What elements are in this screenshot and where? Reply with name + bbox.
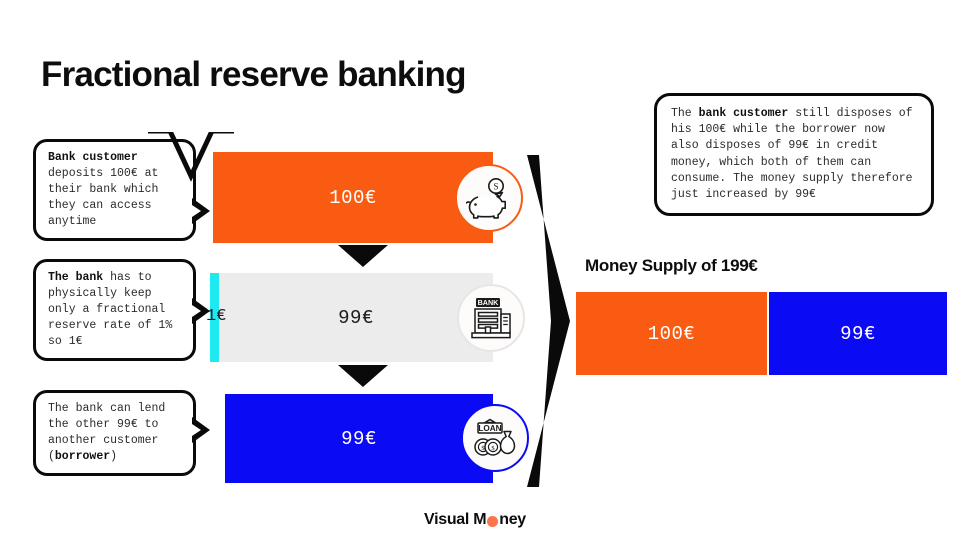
flow-arrow-down-icon bbox=[338, 365, 388, 387]
reserve-bar: 99€ bbox=[219, 273, 493, 362]
svg-text:BANK: BANK bbox=[478, 298, 500, 307]
piggy-bank-icon: S bbox=[455, 164, 523, 232]
money-supply-stacked-bar: 100€ 99€ bbox=[576, 292, 947, 375]
loan-money-bag-icon: LOAN $ $ bbox=[461, 404, 529, 472]
loan-bar: 99€ bbox=[225, 394, 493, 483]
logo-text-part2: ney bbox=[499, 511, 526, 529]
money-supply-segment-credit-label: 99€ bbox=[840, 323, 876, 345]
loan-bar-label: 99€ bbox=[341, 428, 377, 450]
page-title: Fractional reserve banking bbox=[41, 55, 466, 95]
callout-lend-borrower-text: The bank can lend the other 99€ to anoth… bbox=[48, 402, 165, 463]
callout-lend-borrower: The bank can lend the other 99€ to anoth… bbox=[33, 390, 196, 476]
callout-tail-down bbox=[148, 128, 234, 184]
callout-bank-customer-text: Bank customer deposits 100€ at their ban… bbox=[48, 151, 158, 228]
svg-text:LOAN: LOAN bbox=[478, 424, 501, 433]
visual-money-logo: Visual M ney bbox=[424, 511, 526, 529]
callout-tail bbox=[192, 417, 210, 443]
svg-text:S: S bbox=[493, 182, 498, 192]
callout-tail bbox=[192, 198, 210, 224]
flow-chevron-right-icon bbox=[525, 155, 570, 487]
deposit-bar-label: 100€ bbox=[329, 187, 377, 209]
callout-money-supply-text: The bank customer still disposes of his … bbox=[671, 107, 913, 201]
money-supply-heading: Money Supply of 199€ bbox=[585, 256, 758, 276]
flow-arrow-down-icon bbox=[338, 245, 388, 267]
reserve-bar-label: 99€ bbox=[338, 307, 374, 329]
deposit-bar: 100€ bbox=[213, 152, 493, 243]
callout-the-bank-text: The bank has to physically keep only a f… bbox=[48, 271, 172, 348]
callout-the-bank: The bank has to physically keep only a f… bbox=[33, 259, 196, 361]
money-supply-segment-deposit-label: 100€ bbox=[648, 323, 696, 345]
money-supply-segment-credit: 99€ bbox=[769, 292, 947, 375]
infographic-canvas: Fractional reserve banking 100€ 1€ 99€ 9… bbox=[0, 0, 960, 540]
bank-building-icon: BANK bbox=[457, 284, 525, 352]
callout-tail bbox=[192, 298, 210, 324]
money-supply-segment-deposit: 100€ bbox=[576, 292, 767, 375]
callout-money-supply-explanation: The bank customer still disposes of his … bbox=[654, 93, 934, 216]
logo-dot-icon bbox=[487, 516, 498, 527]
logo-text-part1: Visual M bbox=[424, 511, 486, 529]
